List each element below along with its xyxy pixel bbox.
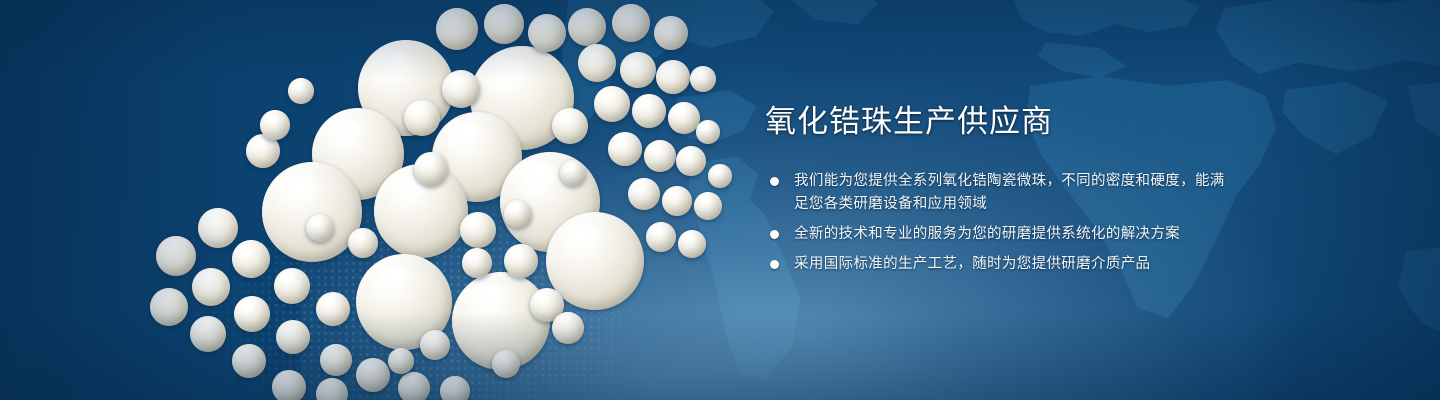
banner-headline: 氧化锆珠生产供应商	[765, 104, 1235, 141]
list-item-text: 我们能为您提供全系列氧化锆陶瓷微珠，不同的密度和硬度，能满足您各类研磨设备和应用…	[794, 173, 1225, 212]
bullet-dot-icon	[770, 230, 779, 239]
list-item: 全新的技术和专业的服务为您的研磨提供系统化的解决方案	[765, 223, 1235, 246]
list-item: 我们能为您提供全系列氧化锆陶瓷微珠，不同的密度和硬度，能满足您各类研磨设备和应用…	[765, 170, 1235, 216]
list-item-text: 采用国际标准的生产工艺，随时为您提供研磨介质产品	[794, 256, 1150, 272]
bullet-dot-icon	[770, 260, 779, 269]
hero-banner: 氧化锆珠生产供应商 我们能为您提供全系列氧化锆陶瓷微珠，不同的密度和硬度，能满足…	[0, 0, 1440, 400]
banner-feature-list: 我们能为您提供全系列氧化锆陶瓷微珠，不同的密度和硬度，能满足您各类研磨设备和应用…	[765, 170, 1235, 276]
zirconia-beads-image	[0, 0, 740, 400]
banner-copy: 氧化锆珠生产供应商 我们能为您提供全系列氧化锆陶瓷微珠，不同的密度和硬度，能满足…	[765, 104, 1235, 276]
list-item-text: 全新的技术和专业的服务为您的研磨提供系统化的解决方案	[794, 226, 1180, 242]
list-item: 采用国际标准的生产工艺，随时为您提供研磨介质产品	[765, 253, 1235, 276]
bullet-dot-icon	[770, 177, 779, 186]
